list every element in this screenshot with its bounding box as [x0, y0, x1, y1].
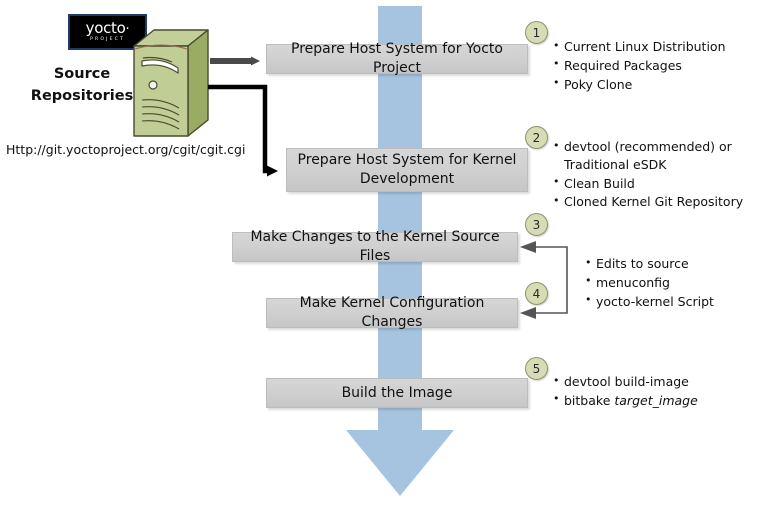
list-item: devtool (recommended) or Traditional eSD… [553, 138, 768, 174]
bullet-list-steps-3-4: Edits to source menuconfig yocto-kernel … [585, 255, 769, 311]
process-box-step1-label: Prepare Host System for Yocto Project [267, 40, 527, 78]
process-box-step2-label-line1: Prepare Host System for Kernel [298, 152, 517, 168]
server-tower-icon [132, 28, 210, 138]
connector-bracket-steps-3-4 [520, 241, 567, 319]
connector-server-to-step2 [208, 87, 268, 171]
bullet-list-step1: Current Linux Distribution Required Pack… [553, 38, 768, 94]
step-number-4-text: 4 [533, 287, 541, 301]
bullet-text: bitbake [564, 393, 614, 408]
list-item: yocto-kernel Script [585, 293, 769, 311]
process-box-step3[interactable]: Make Changes to the Kernel Source Files [232, 232, 518, 262]
process-box-step1[interactable]: Prepare Host System for Yocto Project [266, 44, 528, 74]
step-number-badge-3: 3 [525, 213, 548, 236]
source-label-line2: Repositories [22, 86, 142, 108]
list-item: Clean Build [553, 175, 768, 193]
logo-wordmark: yocto· [86, 21, 130, 36]
step-number-badge-1: 1 [525, 21, 548, 44]
yocto-kernel-workflow-diagram: yocto· PROJECT Source Repositories Http:… [0, 0, 769, 517]
step-number-5-text: 5 [533, 362, 541, 376]
step-number-3-text: 3 [533, 218, 541, 232]
bullet-text: devtool build-image [564, 374, 689, 389]
step-number-badge-5: 5 [525, 357, 548, 380]
bullet-text: yocto-kernel Script [596, 294, 714, 309]
list-item: Required Packages [553, 57, 768, 75]
bullet-text: Edits to source [596, 256, 689, 271]
process-box-step4[interactable]: Make Kernel Configuration Changes [266, 298, 518, 328]
list-item: Current Linux Distribution [553, 38, 768, 56]
step-number-badge-4: 4 [525, 282, 548, 305]
step-number-badge-2: 2 [525, 126, 548, 149]
list-item: Cloned Kernel Git Repository [553, 193, 768, 211]
bullet-text: Required Packages [564, 58, 682, 73]
bullet-text-wrap: Traditional eSDK [564, 156, 768, 174]
list-item: menuconfig [585, 274, 769, 292]
source-repositories-label: Source Repositories [22, 64, 142, 108]
bullet-text: Current Linux Distribution [564, 39, 726, 54]
bullet-text: Clean Build [564, 176, 635, 191]
list-item: Poky Clone [553, 76, 768, 94]
bullet-text: Cloned Kernel Git Repository [564, 194, 743, 209]
bullet-text: menuconfig [596, 275, 670, 290]
bullet-text-italic: target_image [614, 393, 697, 408]
bullet-text: devtool (recommended) or [564, 139, 732, 154]
bullet-list-step5: devtool build-image bitbake target_image [553, 373, 768, 411]
list-item: devtool build-image [553, 373, 768, 391]
step-number-1-text: 1 [533, 26, 541, 40]
list-item: Edits to source [585, 255, 769, 273]
repository-url-text: Http://git.yoctoproject.org/cgit/cgit.cg… [6, 142, 245, 157]
source-label-line1: Source [22, 64, 142, 86]
process-box-step2-label-line2: Development [360, 171, 454, 187]
process-box-step5-label: Build the Image [342, 384, 453, 403]
process-box-step3-label: Make Changes to the Kernel Source Files [233, 228, 517, 266]
process-box-step2-label: Prepare Host System for Kernel Developme… [298, 151, 517, 189]
bullet-list-step2: devtool (recommended) or Traditional eSD… [553, 138, 768, 212]
step-number-2-text: 2 [533, 131, 541, 145]
logo-subtitle: PROJECT [90, 38, 125, 43]
bullet-text: Poky Clone [564, 77, 632, 92]
process-box-step2[interactable]: Prepare Host System for Kernel Developme… [286, 148, 528, 192]
process-box-step5[interactable]: Build the Image [266, 378, 528, 408]
process-box-step4-label: Make Kernel Configuration Changes [267, 294, 517, 332]
list-item: bitbake target_image [553, 392, 768, 410]
